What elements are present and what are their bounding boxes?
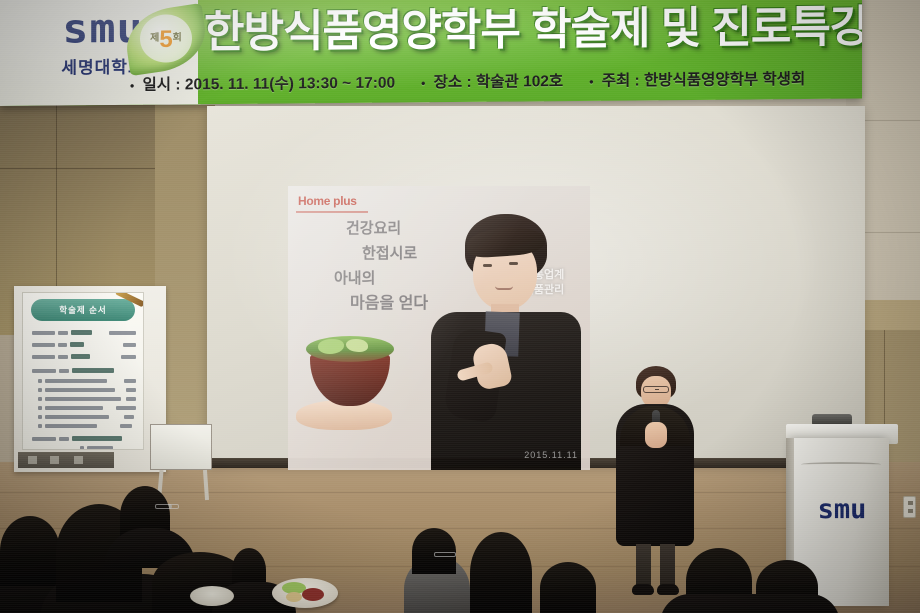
university-name-korean: 세명대학교 [28,52,178,78]
presenter-shoe-left [632,584,654,595]
slide-side-caption: 유통업계 식품관리 [504,268,584,298]
poster-row [32,422,136,429]
poster-row [32,404,136,411]
presenter-leg-left [636,544,651,588]
salad-bowl [310,354,390,406]
audience-head [470,532,532,613]
chalk-mark [28,456,37,464]
edition-badge: 제5회 [141,18,191,58]
university-logo: smu 세명대학교 [28,6,178,91]
poster-row [32,444,136,450]
wall-seam [0,168,162,169]
poster-row [32,341,136,348]
audience-head [0,516,60,586]
presenter-shoe-right [657,584,679,595]
info-label-location: 장소 [434,74,463,91]
poster-row [32,329,136,336]
plate-food-item [302,588,324,601]
model-face [473,238,537,310]
presenter-hands [645,422,667,448]
info-label-datetime: 일시 [143,77,172,94]
model-pointing-finger [456,361,494,381]
glasses-icon [643,386,669,393]
info-value-datetime: 2015. 11. 11(수) 13:30 ~ 17:00 [185,75,395,94]
edition-prefix: 제 [150,33,159,44]
program-schedule-poster: 학술제 순서 [22,292,144,450]
mobile-whiteboard [150,424,212,470]
model-fringe [466,225,546,258]
model-mouth [495,286,513,290]
lectern-handle-groove [801,462,881,467]
plate-food-item [286,592,302,602]
poster-row [32,353,136,360]
lectern-smu-logo: smu [800,494,884,525]
model-hand [471,341,513,391]
slide-headline: 건강요리 한접시로 아내의 마음을 얻다 [328,216,498,316]
model-neck [491,304,519,322]
banner-logo-panel [0,0,198,106]
presenter-leg-right [660,544,675,588]
model-arm [443,327,507,423]
banner-info-location: 장소 : 학술관 102호 [421,69,563,92]
model-shirt [484,311,520,356]
model-eye-left [483,264,492,267]
slide-timestamp: 2015.11.11 [524,450,578,460]
salad-bowl-contents [306,336,394,362]
audience-head [412,528,456,574]
model-suit [431,312,581,470]
poster-header-title: 학술제 순서 [31,299,135,321]
edition-suffix: 회 [173,32,182,43]
banner-title: 한방식품영양학부 학술제 및 진로특강 [204,0,854,64]
slide-side-caption-line-1: 유통업계 [504,268,584,283]
slide-headline-line-1: 건강요리 [346,216,498,241]
food-plate [190,586,234,606]
slide-headline-line-2: 한접시로 [362,241,498,266]
poster-row [32,395,136,402]
homeplus-logo: Home plus [298,194,357,208]
projected-slide: Home plus 건강요리 한접시로 아내의 마음을 얻다 유통업계 식품관리 [288,186,590,470]
chalk-mark [50,456,59,464]
chalk-mark [74,456,83,464]
wall-outlet [903,496,916,518]
edition-number: 5 [159,26,172,53]
info-value-location: 학술관 102호 [476,73,563,91]
slide-side-caption-line-2: 식품관리 [504,283,584,298]
poster-row [32,435,136,442]
salad-leaf-2 [346,339,368,352]
seminar-hall-photo: smu 세명대학교 제5회 한방식품영양학부 학술제 및 진로특강 일시 : 2… [0,0,920,613]
banner-info-datetime: 일시 : 2015. 11. 11(수) 13:30 ~ 17:00 [130,71,395,95]
slide-headline-line-4: 마음을 얻다 [350,291,498,316]
slide-model-figure [421,212,586,470]
homeplus-logo-underline [296,211,368,213]
poster-row [32,386,136,393]
leaf-badge-circle [140,14,192,62]
banner-info-row: 일시 : 2015. 11. 11(수) 13:30 ~ 17:00 장소 : … [130,64,860,96]
smu-wordmark: smu [22,6,184,51]
model-hair [465,214,547,280]
banner-info-host: 주최 : 한방식품영양학부 학생회 [589,67,805,91]
poster-row [32,367,136,374]
salad-leaf-1 [318,339,344,354]
poster-row [32,413,136,420]
info-value-host: 한방식품영양학부 학생회 [644,71,805,89]
info-label-host: 주최 [602,72,631,89]
poster-row [32,377,136,384]
slide-headline-line-3: 아내의 [334,266,498,291]
model-eye-right [509,262,518,265]
glasses-icon [434,552,456,557]
glasses-icon [155,504,179,509]
audience-head [540,562,596,613]
leaf-icon [122,3,210,76]
audience-shoulders [660,594,840,613]
event-banner: smu 세명대학교 제5회 한방식품영양학부 학술제 및 진로특강 일시 : 2… [0,0,862,106]
food-plate [272,578,338,608]
presenter [612,366,698,604]
model-open-palm [296,400,392,430]
